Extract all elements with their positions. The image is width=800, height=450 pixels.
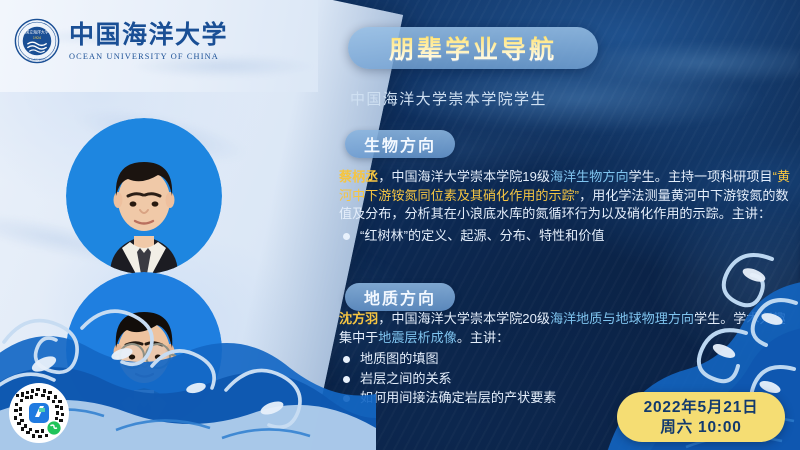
speaker-bio-paragraph: 蔡柄丞，中国海洋大学崇本学院19级海洋生物方向学生。主持一项科研项目“黄河中下游… — [339, 168, 791, 224]
geo-intro-a: 中国海洋大学崇本学院20级 — [391, 311, 550, 326]
poster-title-pill: 朋辈学业导航 — [348, 27, 598, 69]
geo-interest: 地震层析成像 — [378, 330, 457, 345]
university-logo: 国立海洋大学 1924 OCEAN UNIV. 中国海洋大学 OCEAN UNI… — [14, 18, 228, 64]
portrait-illustration-1 — [66, 118, 222, 274]
wechat-miniprogram-qr-icon[interactable] — [8, 382, 70, 444]
bio-intro-b: 学生。主持一项科研项目 — [629, 169, 773, 184]
section-pill-biology-label: 生物方向 — [364, 132, 436, 156]
event-date: 2022年5月21日 — [644, 398, 759, 417]
list-item: 地质图的填图 — [339, 349, 794, 369]
bio-major: 海洋生物方向 — [550, 169, 629, 184]
speaker-name-biology: 蔡柄丞 — [339, 169, 378, 184]
bio-intro-a: 中国海洋大学崇本学院19级 — [391, 169, 550, 184]
university-name-cn: 中国海洋大学 — [69, 22, 228, 47]
list-item: “红树林”的定义、起源、分布、特性和价值 — [339, 226, 791, 246]
geo-intro-c: 。主讲： — [457, 330, 509, 345]
portrait-cai-bingcheng — [66, 118, 222, 274]
ouc-crest-icon: 国立海洋大学 1924 OCEAN UNIV. — [14, 18, 60, 64]
svg-text:1924: 1924 — [33, 36, 41, 40]
sep-2: ， — [378, 311, 391, 326]
poster-subtitle: 中国海洋大学崇本学院学生 — [350, 88, 547, 109]
svg-text:国立海洋大学: 国立海洋大学 — [25, 30, 49, 35]
poster-canvas: 国立海洋大学 1924 OCEAN UNIV. 中国海洋大学 OCEAN UNI… — [0, 0, 800, 450]
poster-title: 朋辈学业导航 — [389, 30, 557, 66]
list-item: 岩层之间的关系 — [339, 369, 794, 389]
topic-list-biology: “红树林”的定义、起源、分布、特性和价值 — [339, 226, 791, 246]
section-body-biology: 蔡柄丞，中国海洋大学崇本学院19级海洋生物方向学生。主持一项科研项目“黄河中下游… — [339, 168, 791, 245]
event-time: 周六 10:00 — [660, 418, 741, 437]
speaker-geo-paragraph: 沈方羽，中国海洋大学崇本学院20级海洋地质与地球物理方向学生。学术兴趣集中于地震… — [339, 310, 794, 347]
portrait-illustration-2 — [66, 272, 222, 428]
speaker-name-geology: 沈方羽 — [339, 311, 378, 326]
section-pill-geology: 地质方向 — [345, 283, 455, 311]
sep-1: ， — [378, 169, 391, 184]
geo-major: 海洋地质与地球物理方向 — [550, 311, 694, 326]
section-pill-biology: 生物方向 — [345, 130, 455, 158]
university-name-en: OCEAN UNIVERSITY OF CHINA — [69, 52, 228, 61]
svg-text:OCEAN UNIV.: OCEAN UNIV. — [27, 57, 47, 61]
section-pill-geology-label: 地质方向 — [364, 285, 436, 309]
portrait-shen-fangyu — [66, 272, 222, 428]
event-date-badge: 2022年5月21日 周六 10:00 — [617, 392, 785, 442]
